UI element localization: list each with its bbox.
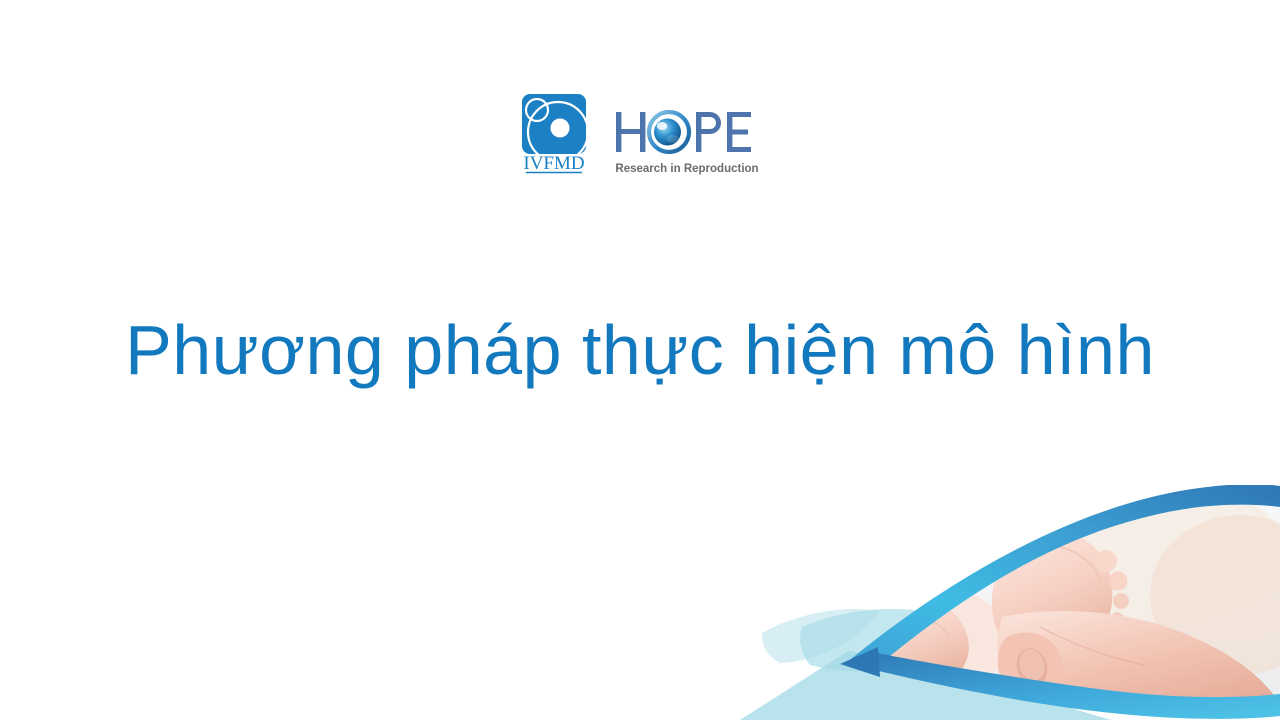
hope-logo: Research in Reproduction bbox=[612, 106, 762, 190]
hope-letters-pe bbox=[696, 112, 751, 152]
baby-feet-swoosh-graphic bbox=[740, 485, 1280, 720]
hope-logo-mark: Research in Reproduction bbox=[612, 106, 762, 182]
decor-wedge-lower bbox=[740, 651, 1112, 720]
hope-tagline: Research in Reproduction bbox=[615, 163, 758, 175]
baby-feet-photo bbox=[820, 485, 1280, 720]
hope-letter-h bbox=[616, 112, 645, 152]
ivfmd-logo-mark: IVFMD bbox=[518, 92, 590, 176]
ivfmd-logo: IVFMD bbox=[518, 92, 590, 176]
title-container: Phương pháp thực hiện mô hình bbox=[0, 312, 1280, 389]
hope-sphere-icon bbox=[649, 112, 689, 152]
baby-left-foot bbox=[865, 601, 969, 685]
swoosh-lower bbox=[846, 652, 1280, 719]
swoosh-upper bbox=[846, 485, 1280, 671]
adult-hand bbox=[997, 611, 1280, 720]
baby-right-foot bbox=[992, 531, 1129, 661]
swoosh-joint bbox=[840, 647, 880, 677]
decorative-artwork bbox=[740, 485, 1280, 720]
decor-leaf-mid bbox=[800, 609, 976, 671]
page-title: Phương pháp thực hiện mô hình bbox=[0, 312, 1280, 389]
logo-bar: IVFMD bbox=[0, 92, 1280, 188]
slide-canvas: IVFMD bbox=[0, 0, 1280, 720]
ivfmd-wordmark: IVFMD bbox=[523, 153, 584, 174]
decor-leaf-pale bbox=[762, 609, 880, 663]
